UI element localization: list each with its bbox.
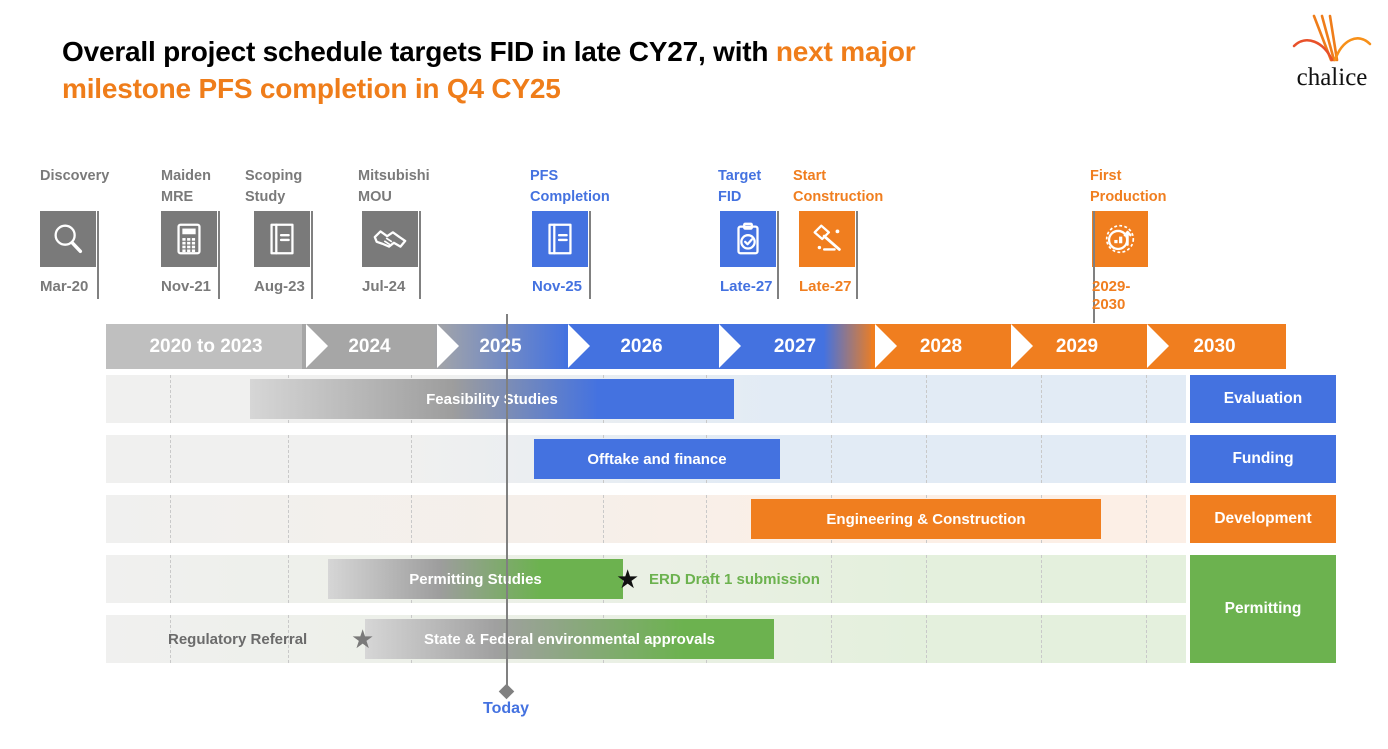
book-icon (541, 220, 579, 258)
lane-bar-label: Engineering & Construction (826, 511, 1025, 528)
milestone-date: 2029- 2030 (1092, 278, 1182, 314)
lane-bar[interactable]: State & Federal environmental approvals (365, 619, 774, 659)
gridline (831, 435, 832, 483)
gridline (1146, 375, 1147, 423)
timeline-segment-label: 2029 (1056, 336, 1098, 358)
milestone-label: PFS Completion (530, 166, 650, 208)
gridline (170, 555, 171, 603)
milestone-icon-box (1092, 211, 1148, 267)
milestone-icon-box (40, 211, 96, 267)
lane-outside-label: Regulatory Referral (168, 619, 307, 659)
gridline (926, 555, 927, 603)
milestone-pole (218, 211, 220, 299)
lane-bar[interactable]: Offtake and finance (534, 439, 780, 479)
milestone-pole (97, 211, 99, 299)
lane-bar-label: State & Federal environmental approvals (424, 631, 715, 648)
timeline-segment-2020-to-2023[interactable]: 2020 to 2023 (106, 324, 306, 369)
gridline (1041, 615, 1042, 663)
lane-evaluation: Feasibility Studies (106, 375, 1186, 423)
timeline-segment-label: 2030 (1193, 336, 1235, 358)
timeline-segment-label: 2024 (348, 336, 390, 358)
category-label: Permitting (1225, 600, 1302, 618)
milestone-pole (419, 211, 421, 299)
gridline (1041, 435, 1042, 483)
lane-bar[interactable]: Permitting Studies (328, 559, 623, 599)
gridline (831, 615, 832, 663)
category-evaluation[interactable]: Evaluation (1190, 375, 1336, 423)
book-icon (263, 220, 301, 258)
timeline-segment-label: 2026 (620, 336, 662, 358)
milestone-icon-box (720, 211, 776, 267)
milestone-label: Discovery (40, 166, 160, 187)
lane-bar-label: Permitting Studies (409, 571, 542, 588)
timeline-segment-label: 2028 (920, 336, 962, 358)
milestone-date: Jul-24 (362, 278, 452, 296)
milestone-label: Maiden MRE (161, 166, 281, 208)
clipboard-check-icon (729, 220, 767, 258)
milestone-date: Late-27 (799, 278, 889, 296)
gridline (170, 375, 171, 423)
today-marker-line (506, 314, 508, 692)
gridline (288, 435, 289, 483)
gridline (831, 555, 832, 603)
lane-development: Engineering & Construction (106, 495, 1186, 543)
lane-outside-label: ERD Draft 1 submission (649, 559, 820, 599)
handshake-icon (371, 220, 409, 258)
milestone-icon-box (161, 211, 217, 267)
milestone-label: First Production (1090, 166, 1210, 208)
lane-bar-label: Offtake and finance (587, 451, 726, 468)
gridline (288, 495, 289, 543)
timeline-segment-label: 2027 (774, 336, 816, 358)
gridline (926, 435, 927, 483)
milestone-label: Target FID (718, 166, 838, 208)
milestone-pole (1093, 211, 1095, 323)
lane-background (106, 555, 1186, 603)
page-title: Overall project schedule targets FID in … (62, 34, 1242, 108)
milestone-date: Late-27 (720, 278, 810, 296)
today-marker-dot (499, 684, 515, 700)
milestone-label: Start Construction (793, 166, 913, 208)
milestone-date: Nov-25 (532, 278, 622, 296)
gridline (170, 435, 171, 483)
lane-bar[interactable]: Engineering & Construction (751, 499, 1101, 539)
milestone-pole (311, 211, 313, 299)
gridline (1041, 555, 1042, 603)
gridline (926, 375, 927, 423)
category-permitting[interactable]: Permitting (1190, 555, 1336, 663)
milestone-icon-box (532, 211, 588, 267)
milestone-star-icon: ★ (351, 627, 374, 651)
gridline (603, 495, 604, 543)
milestone-icon-box (254, 211, 310, 267)
gridline (1146, 615, 1147, 663)
milestone-label: Mitsubishi MOU (358, 166, 478, 208)
timeline-segment-label: 2025 (479, 336, 521, 358)
gear-production-icon (1101, 220, 1139, 258)
title-line2-accent: milestone PFS completion in Q4 CY25 (62, 73, 561, 104)
gridline (1041, 375, 1042, 423)
timeline-chevron-bar: 2020 to 20232024202520262027202820292030 (106, 324, 1186, 369)
milestone-date: Mar-20 (40, 278, 130, 296)
gridline (411, 435, 412, 483)
chalice-logo: chalice (1284, 14, 1380, 88)
milestone-date: Aug-23 (254, 278, 344, 296)
milestone-icon-box (362, 211, 418, 267)
milestone-date: Nov-21 (161, 278, 251, 296)
gridline (288, 555, 289, 603)
category-label: Development (1214, 510, 1311, 528)
gridline (411, 495, 412, 543)
lane-regulatory-referral: Regulatory ReferralState & Federal envir… (106, 615, 1186, 663)
category-label: Evaluation (1224, 390, 1302, 408)
timeline-segment-label: 2020 to 2023 (149, 336, 262, 358)
hammer-icon (808, 220, 846, 258)
gridline (1146, 555, 1147, 603)
milestone-star-icon: ★ (616, 567, 639, 591)
milestone-pole (856, 211, 858, 299)
gridline (706, 495, 707, 543)
category-development[interactable]: Development (1190, 495, 1336, 543)
milestone-label: Scoping Study (245, 166, 365, 208)
category-label: Funding (1232, 450, 1293, 468)
gridline (831, 375, 832, 423)
category-funding[interactable]: Funding (1190, 435, 1336, 483)
swimlane-chart: Feasibility StudiesOfftake and financeEn… (106, 375, 1186, 675)
lane-permitting-studies: ERD Draft 1 submissionPermitting Studies… (106, 555, 1186, 603)
gridline (1146, 495, 1147, 543)
gridline (926, 615, 927, 663)
gridline (170, 495, 171, 543)
title-line1-accent: next major (776, 36, 916, 67)
milestone-pole (589, 211, 591, 299)
lane-funding: Offtake and finance (106, 435, 1186, 483)
lane-bar-label: Feasibility Studies (426, 391, 558, 408)
milestone-icon-box (799, 211, 855, 267)
logo-wordmark: chalice (1284, 65, 1380, 90)
chalice-logo-icon (1284, 14, 1380, 70)
title-line1-black: Overall project schedule targets FID in … (62, 36, 776, 67)
magnifier-icon (49, 220, 87, 258)
today-label: Today (456, 700, 556, 718)
milestone-pole (777, 211, 779, 299)
gridline (1146, 435, 1147, 483)
calculator-icon (170, 220, 208, 258)
lane-bar[interactable]: Feasibility Studies (250, 379, 734, 419)
